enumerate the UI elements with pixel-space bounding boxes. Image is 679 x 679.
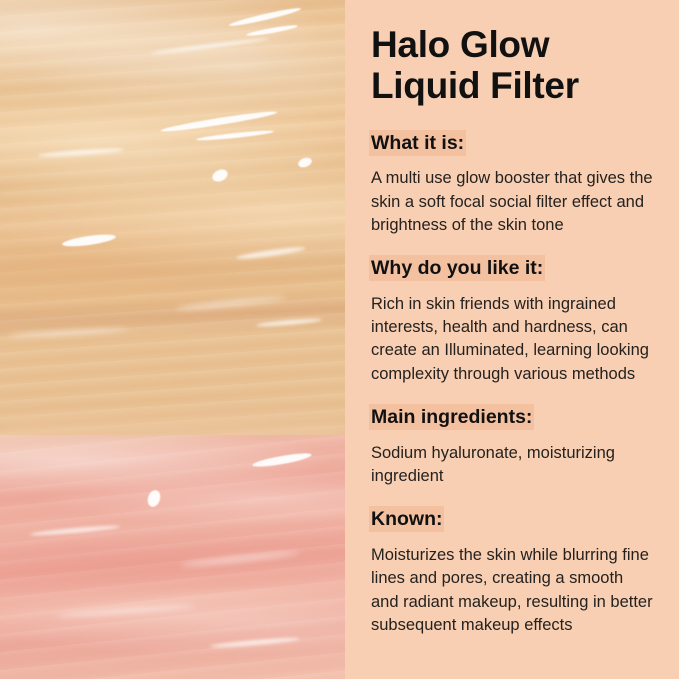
section-body: Sodium hyaluronate, moisturizing ingredi… [371, 442, 655, 489]
section-heading: What it is: [371, 132, 464, 154]
section-body: A multi use glow booster that gives the … [371, 167, 655, 237]
section-body: Rich in skin friends with ingrained inte… [371, 293, 655, 387]
section-heading: Known: [371, 508, 442, 530]
section-heading: Why do you like it: [371, 257, 543, 279]
page-title: Halo Glow Liquid Filter [371, 24, 655, 107]
section-heading-wrap: Why do you like it: [371, 254, 655, 283]
title-line-2: Liquid Filter [371, 65, 655, 106]
section-main-ingredients: Main ingredients: Sodium hyaluronate, mo… [371, 403, 655, 488]
section-why-do-you-like-it: Why do you like it: Rich in skin friends… [371, 254, 655, 386]
section-what-it-is: What it is: A multi use glow booster tha… [371, 129, 655, 238]
product-swatch-image [0, 0, 345, 679]
section-heading-wrap: Known: [371, 505, 655, 534]
title-line-1: Halo Glow [371, 24, 655, 65]
section-known: Known: Moisturizes the skin while blurri… [371, 505, 655, 637]
gold-swatch-texture [0, 0, 345, 475]
product-info-card: Halo Glow Liquid Filter What it is: A mu… [0, 0, 679, 679]
section-body: Moisturizes the skin while blurring fine… [371, 544, 655, 638]
section-heading: Main ingredients: [371, 406, 532, 428]
product-description-panel: Halo Glow Liquid Filter What it is: A mu… [345, 0, 679, 679]
section-heading-wrap: Main ingredients: [371, 403, 655, 432]
pink-swatch-texture [0, 435, 345, 679]
section-heading-wrap: What it is: [371, 129, 655, 158]
